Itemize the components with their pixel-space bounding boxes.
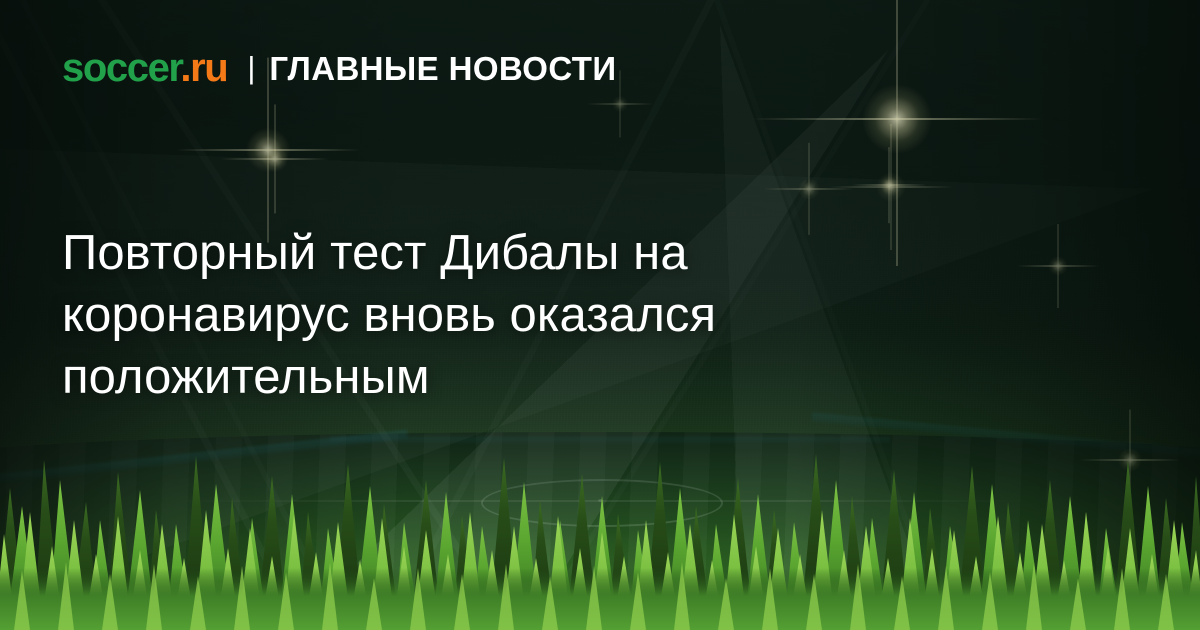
- headline-line-2: коронавирус вновь оказался: [62, 288, 716, 342]
- headline-line-3: положительным: [62, 350, 430, 404]
- news-share-card: soccer.ru | ГЛАВНЫЕ НОВОСТИ Повторный те…: [0, 0, 1200, 630]
- logo-tld-part: .ru: [180, 46, 227, 90]
- logo-name-part: soccer: [62, 46, 180, 90]
- headline-line-1: Повторный тест Дибалы на: [62, 226, 688, 280]
- brand-header[interactable]: soccer.ru | ГЛАВНЫЕ НОВОСТИ: [62, 48, 616, 88]
- page-title: Повторный тест Дибалы на коронавирус вно…: [62, 222, 922, 408]
- header-divider: |: [247, 52, 255, 83]
- section-kicker: ГЛАВНЫЕ НОВОСТИ: [269, 52, 616, 85]
- card-content: soccer.ru | ГЛАВНЫЕ НОВОСТИ Повторный те…: [0, 0, 1200, 630]
- site-logo[interactable]: soccer.ru: [62, 48, 227, 88]
